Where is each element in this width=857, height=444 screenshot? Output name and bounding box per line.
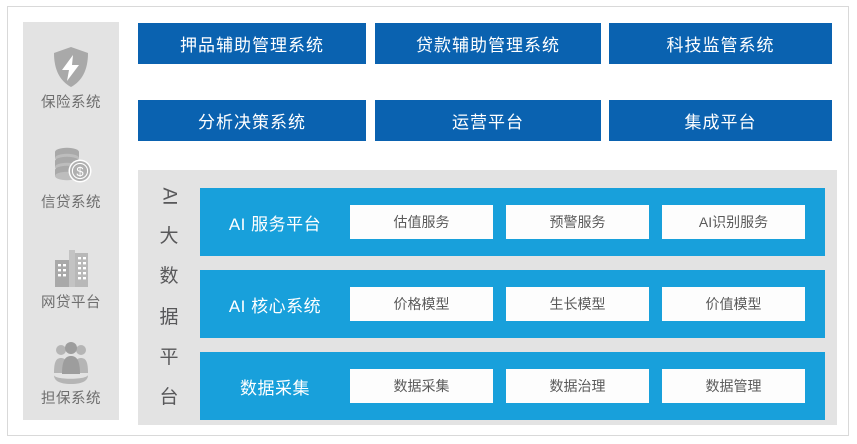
cell-valuation-service[interactable]: 估值服务 (350, 205, 493, 239)
banner-label: 贷款辅助管理系统 (416, 31, 560, 56)
cell-alert-service[interactable]: 预警服务 (506, 205, 649, 239)
vertical-label-char: 台 (159, 388, 178, 407)
platform-row-ai-core: AI 核心系统 价格模型 生长模型 价值模型 (200, 270, 825, 338)
platform-row-data-collection: 数据采集 数据采集 数据治理 数据管理 (200, 352, 825, 420)
banner-label: 集成平台 (685, 108, 757, 133)
sidebar-item-label: 信贷系统 (23, 194, 119, 212)
cell-value-model[interactable]: 价值模型 (662, 287, 805, 321)
banner-operations-platform[interactable]: 运营平台 (375, 100, 601, 141)
sidebar-item-guarantee[interactable]: 担保系统 (23, 340, 119, 408)
cell-growth-model[interactable]: 生长模型 (506, 287, 649, 321)
cell-ai-recognition-service[interactable]: AI识别服务 (662, 205, 805, 239)
coin-stack-dollar-icon: $ (47, 144, 95, 190)
row-cells: 估值服务 预警服务 AI识别服务 (350, 205, 825, 239)
ai-bigdata-platform-panel: AI 大 数 据 平 台 AI 服务平台 估值服务 预警服务 AI识别服务 AI… (138, 170, 837, 425)
row-cells: 价格模型 生长模型 价值模型 (350, 287, 825, 321)
sidebar-item-online-loan[interactable]: 网贷平台 (23, 244, 119, 312)
svg-text:$: $ (76, 164, 84, 179)
vertical-label-char: 平 (159, 348, 178, 367)
cell-price-model[interactable]: 价格模型 (350, 287, 493, 321)
shield-bolt-icon (47, 44, 95, 90)
banner-tech-supervision[interactable]: 科技监管系统 (609, 23, 832, 64)
people-group-icon (47, 340, 95, 386)
banner-label: 运营平台 (452, 108, 524, 133)
banner-label: 押品辅助管理系统 (180, 31, 324, 56)
sidebar-item-insurance[interactable]: 保险系统 (23, 44, 119, 112)
cell-data-governance[interactable]: 数据治理 (506, 369, 649, 403)
vertical-label-char: 据 (159, 308, 178, 327)
banner-label: 科技监管系统 (667, 31, 775, 56)
vertical-label-char: 数 (159, 267, 178, 286)
buildings-icon (47, 244, 95, 290)
sidebar-item-label: 保险系统 (23, 94, 119, 112)
vertical-label-char: 大 (159, 227, 178, 246)
cell-data-collection[interactable]: 数据采集 (350, 369, 493, 403)
cell-data-management[interactable]: 数据管理 (662, 369, 805, 403)
sidebar-item-label: 网贷平台 (23, 294, 119, 312)
sidebar-item-credit[interactable]: $ 信贷系统 (23, 144, 119, 212)
platform-row-ai-service: AI 服务平台 估值服务 预警服务 AI识别服务 (200, 188, 825, 256)
banner-collateral-management[interactable]: 押品辅助管理系统 (138, 23, 366, 64)
banner-label: 分析决策系统 (198, 108, 306, 133)
row-label: 数据采集 (200, 374, 350, 399)
platform-vertical-label: AI 大 数 据 平 台 (152, 187, 186, 407)
row-cells: 数据采集 数据治理 数据管理 (350, 369, 825, 403)
vertical-label-char: AI (159, 188, 178, 206)
banner-analysis-decision[interactable]: 分析决策系统 (138, 100, 366, 141)
row-label: AI 核心系统 (200, 292, 350, 317)
banner-loan-management[interactable]: 贷款辅助管理系统 (375, 23, 601, 64)
architecture-diagram: 保险系统 $ 信贷 (0, 0, 857, 444)
sidebar: 保险系统 $ 信贷 (23, 22, 119, 420)
banner-integration-platform[interactable]: 集成平台 (609, 100, 832, 141)
sidebar-item-label: 担保系统 (23, 390, 119, 408)
row-label: AI 服务平台 (200, 210, 350, 235)
